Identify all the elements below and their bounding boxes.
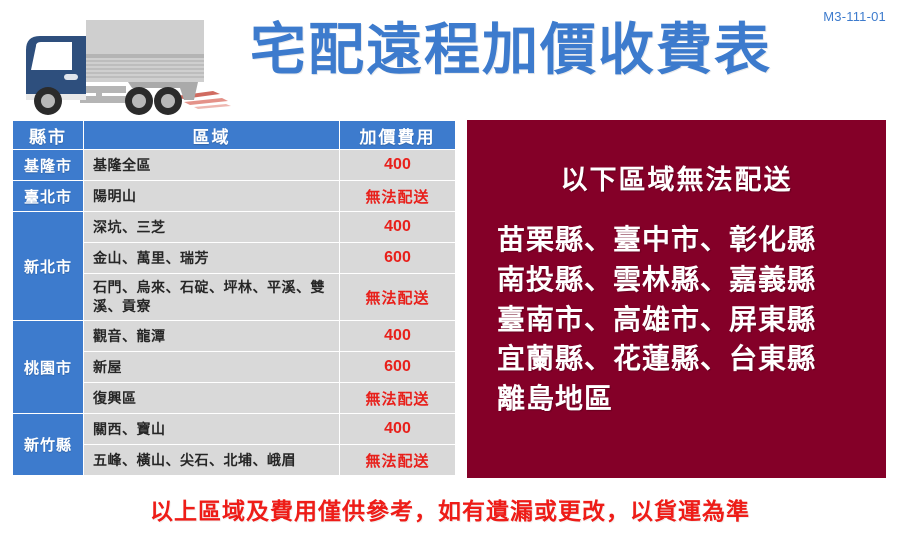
table-row: 臺北市 陽明山 無法配送 <box>13 181 455 211</box>
document-code: M3-111-01 <box>823 9 886 24</box>
fee-value: 無法配送 <box>340 274 455 320</box>
fee-value: 400 <box>340 321 455 351</box>
notice-heading: 以下區域無法配送 <box>467 158 886 197</box>
table-row: 桃園市 觀音、龍潭 400 <box>13 321 455 351</box>
area-label: 觀音、龍潭 <box>84 321 339 351</box>
list-item: 苗栗縣、臺中市、彰化縣 <box>497 220 867 260</box>
undeliverable-area-list: 苗栗縣、臺中市、彰化縣 南投縣、雲林縣、嘉義縣 臺南市、高雄市、屏東縣 宜蘭縣、… <box>497 220 867 419</box>
area-label: 新屋 <box>84 352 339 382</box>
table-header-row: 縣市 區域 加價費用 <box>13 121 455 149</box>
city-label: 臺北市 <box>13 181 83 211</box>
area-label: 基隆全區 <box>84 150 339 180</box>
undeliverable-areas-panel: 以下區域無法配送 苗栗縣、臺中市、彰化縣 南投縣、雲林縣、嘉義縣 臺南市、高雄市… <box>467 120 886 478</box>
fee-value: 無法配送 <box>340 383 455 413</box>
city-label: 桃園市 <box>13 321 83 413</box>
page-title: 宅配遠程加價收費表 <box>250 22 772 78</box>
table-row: 新竹縣 關西、寶山 400 <box>13 414 455 444</box>
city-label: 新竹縣 <box>13 414 83 475</box>
list-item: 臺南市、高雄市、屏東縣 <box>497 300 867 340</box>
table-row: 基隆市 基隆全區 400 <box>13 150 455 180</box>
list-item: 南投縣、雲林縣、嘉義縣 <box>497 260 867 300</box>
page-header: M3-111-01 宅配遠程加價收費表 <box>0 0 900 118</box>
area-label: 復興區 <box>84 383 339 413</box>
area-label: 金山、萬里、瑞芳 <box>84 243 339 273</box>
column-header-area: 區域 <box>84 121 339 149</box>
area-label: 石門、烏來、石碇、坪林、平溪、雙溪、貢寮 <box>84 274 339 320</box>
fee-value: 600 <box>340 243 455 273</box>
city-label: 新北市 <box>13 212 83 320</box>
remote-area-fee-table: 縣市 區域 加價費用 基隆市 基隆全區 400 臺北市 陽明山 無法配送 新北市… <box>12 120 456 476</box>
area-label: 深坑、三芝 <box>84 212 339 242</box>
area-label: 陽明山 <box>84 181 339 211</box>
delivery-truck-icon <box>8 8 238 118</box>
fee-value: 400 <box>340 212 455 242</box>
table-row: 新北市 深坑、三芝 400 <box>13 212 455 242</box>
list-item: 離島地區 <box>497 379 867 419</box>
city-label: 基隆市 <box>13 150 83 180</box>
disclaimer-note: 以上區域及費用僅供參考，如有遺漏或更改，以貨運為準 <box>0 492 900 526</box>
list-item: 宜蘭縣、花蓮縣、台東縣 <box>497 339 867 379</box>
area-label: 關西、寶山 <box>84 414 339 444</box>
column-header-fee: 加價費用 <box>340 121 455 149</box>
fee-value: 400 <box>340 150 455 180</box>
fee-value: 600 <box>340 352 455 382</box>
column-header-city: 縣市 <box>13 121 83 149</box>
area-label: 五峰、橫山、尖石、北埔、峨眉 <box>84 445 339 475</box>
fee-value: 無法配送 <box>340 445 455 475</box>
fee-value: 400 <box>340 414 455 444</box>
fee-value: 無法配送 <box>340 181 455 211</box>
